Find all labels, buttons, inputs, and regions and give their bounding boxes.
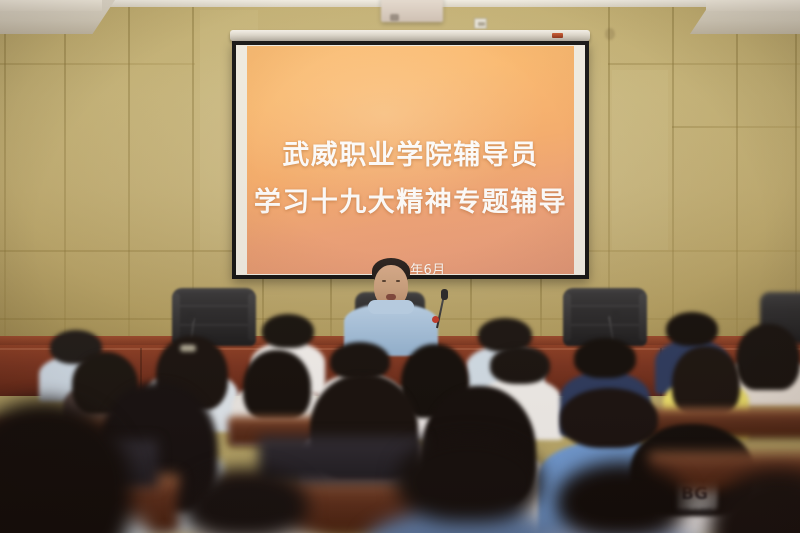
wall-panel [612, 70, 668, 250]
chair-seam [177, 324, 251, 326]
audience-head [262, 314, 314, 348]
foreground-head [182, 468, 308, 533]
chair-side-bolster [563, 293, 571, 342]
foreground-silhouette [396, 436, 542, 533]
audience-member-foreground [318, 374, 406, 440]
audience-member [676, 346, 736, 392]
audience-head [666, 312, 718, 346]
audience-member [404, 344, 466, 392]
bench-seatback-top [648, 452, 800, 462]
foreground-silhouette [182, 468, 308, 533]
wall-seam [64, 0, 66, 340]
speaker-eye-left [382, 280, 386, 282]
microphone-indicator-icon [432, 316, 439, 323]
audience-member [246, 350, 308, 396]
audience-long-hair [243, 350, 311, 420]
wall-seam [470, 277, 472, 340]
wall-seam [128, 0, 130, 340]
screen-roller-housing[interactable] [230, 30, 590, 41]
wall-seam [330, 277, 332, 340]
speaker-microphone-head-icon [441, 289, 448, 300]
ceiling-soffit-right-face [706, 0, 800, 11]
audience-long-hair [736, 324, 800, 390]
wall-seam [736, 0, 738, 340]
wall-blemish [605, 28, 615, 40]
chair-side-bolster [248, 293, 256, 342]
foreground-head [396, 436, 542, 522]
wall-socket [474, 18, 487, 29]
chair-seam [568, 324, 642, 326]
wall-seam [0, 63, 195, 65]
audience-member [742, 324, 794, 366]
wall-seam [4, 0, 6, 340]
chair-side-bolster [639, 293, 647, 342]
audience-long-hair [672, 346, 740, 416]
slide-vignette [247, 46, 574, 274]
wall-seam [672, 0, 674, 340]
foreground-silhouette [716, 470, 800, 533]
audience-head [490, 346, 550, 384]
foreground-silhouette [0, 400, 116, 533]
wall-seam [608, 63, 800, 65]
foreground-long-hair [710, 470, 800, 533]
foreground-silhouette [556, 462, 686, 533]
wall-seam [795, 0, 797, 340]
ceiling-soffit-left-face [0, 0, 102, 11]
speaker-eye-right [396, 280, 400, 282]
audience-member-with-clip [160, 336, 224, 384]
chair-side-bolster [172, 293, 180, 342]
lecture-hall-photo: 武威职业学院辅导员 学习十九大精神专题辅导 2018年6月 [0, 0, 800, 533]
microphone-head-icon [188, 313, 194, 322]
wall-seam [672, 126, 800, 128]
audience-member [574, 338, 636, 386]
projector-lens-icon [390, 14, 399, 21]
hair-clip [180, 345, 196, 352]
audience-head [574, 338, 636, 378]
chair-seam [177, 305, 251, 307]
roller-indicator-icon [552, 33, 563, 38]
wall-seam [540, 277, 542, 340]
foreground-head [556, 462, 686, 533]
presentation-slide[interactable]: 武威职业学院辅导员 学习十九大精神专题辅导 2018年6月 [247, 46, 574, 274]
speaker-collar [368, 300, 414, 314]
chair-seam [568, 305, 642, 307]
microphone-head-icon [613, 311, 619, 320]
foreground-long-hair [0, 400, 132, 533]
speaker-person [352, 258, 430, 344]
